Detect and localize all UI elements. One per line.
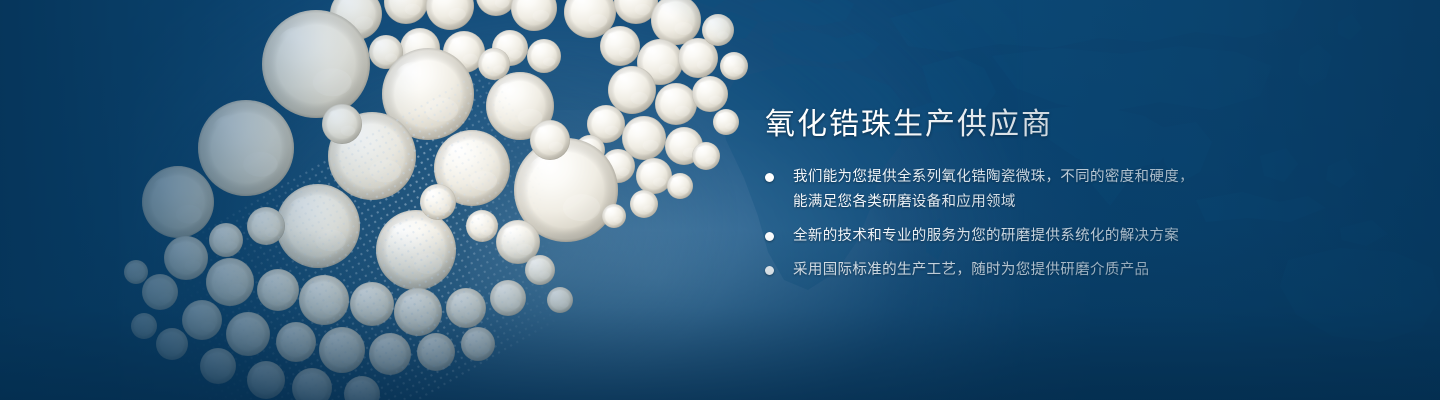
- hero-banner: 氧化锆珠生产供应商 我们能为您提供全系列氧化锆陶瓷微珠，不同的密度和硬度， 能满…: [0, 0, 1440, 400]
- background-bottom-vignette: [0, 230, 1440, 400]
- bullet-dot-icon: [765, 173, 774, 182]
